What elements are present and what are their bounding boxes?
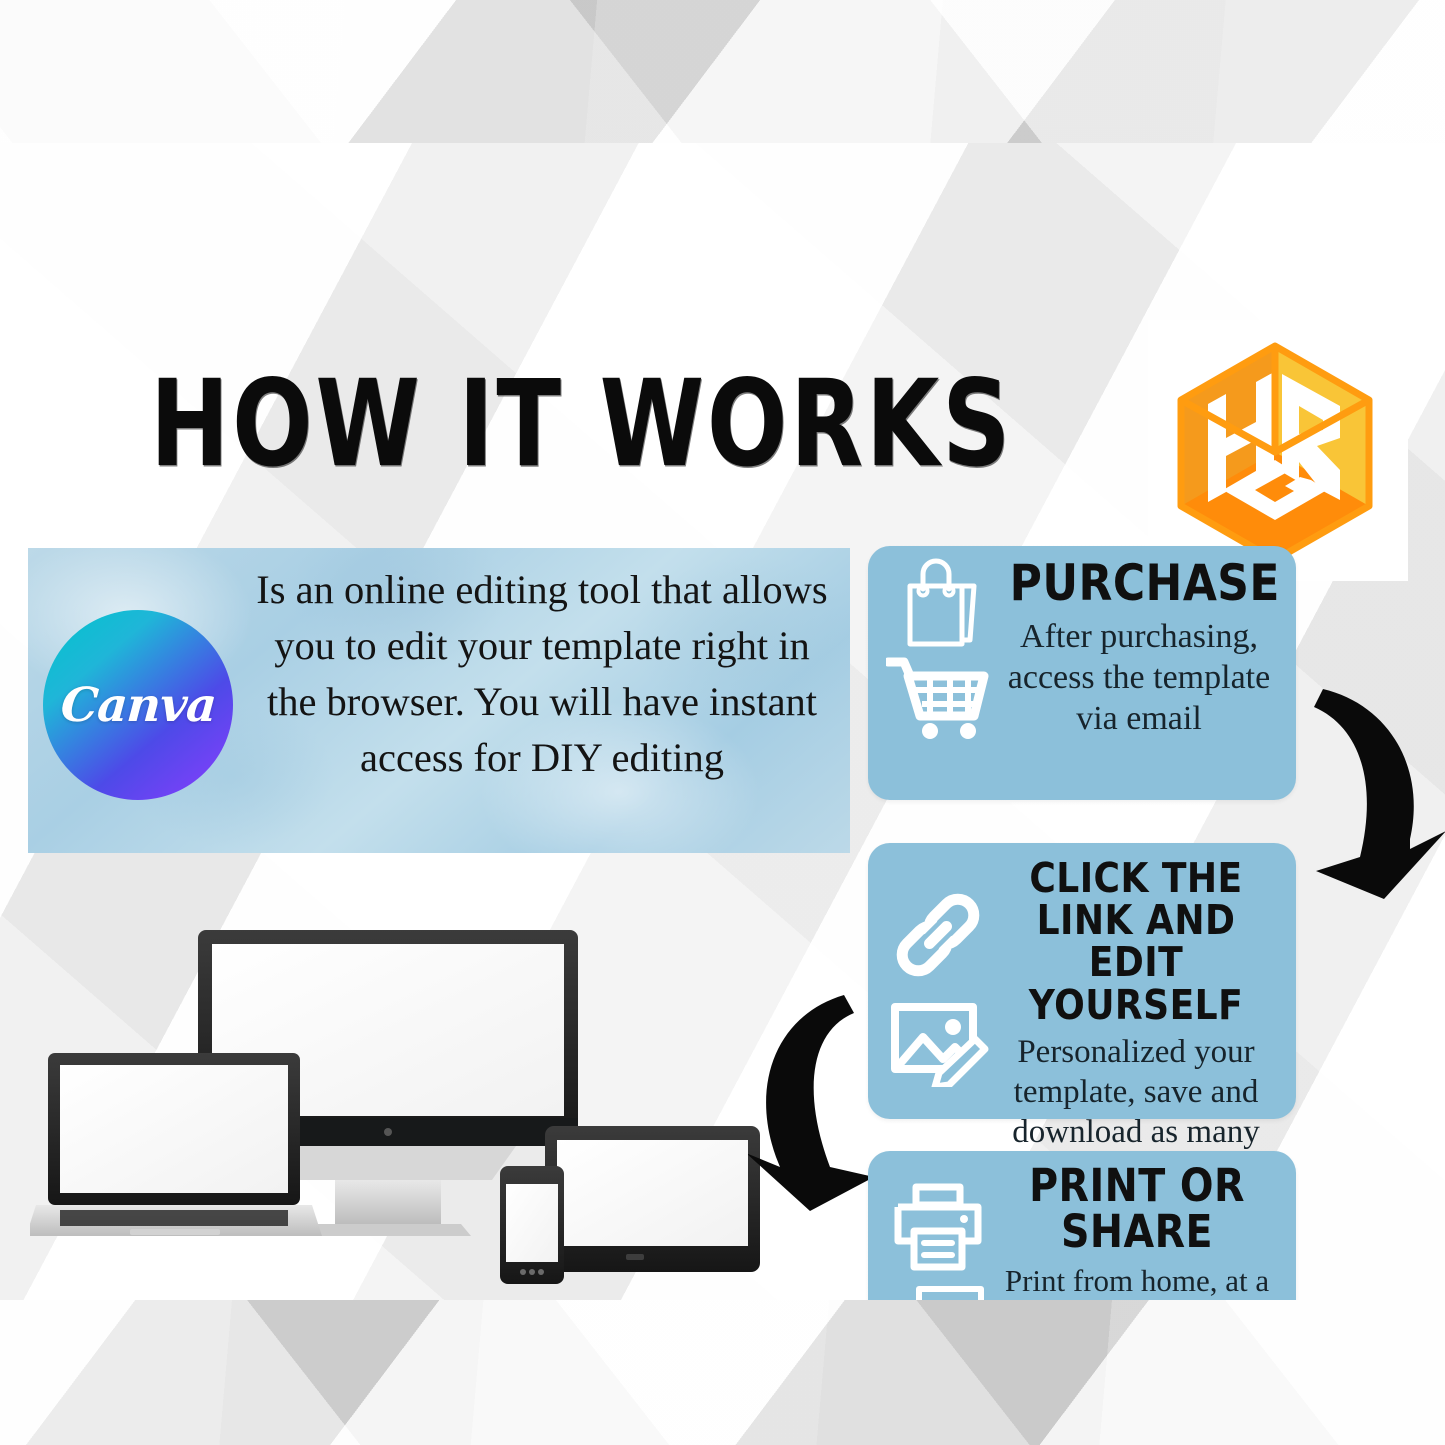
chat-bubbles-icon — [887, 1283, 989, 1300]
canva-brand-label: Canva — [59, 678, 218, 733]
infographic-canvas: HOW IT WORKS Canva Is an online editing … — [0, 143, 1445, 1300]
page-title: HOW IT WORKS — [150, 355, 1013, 494]
edit-icons — [882, 889, 994, 1087]
link-chain-icon — [888, 889, 988, 981]
step-card-edit[interactable]: CLICK THE LINK AND EDIT YOURSELF Persona… — [868, 843, 1296, 1119]
purchase-title: PURCHASE — [1010, 558, 1269, 610]
print-icons — [882, 1181, 994, 1300]
printer-icon — [890, 1181, 986, 1273]
hrg-logo — [1148, 320, 1408, 581]
device-mockup — [30, 918, 770, 1300]
smartphone-icon — [500, 1166, 564, 1284]
edit-title: CLICK THE LINK AND EDIT YOURSELF — [1004, 857, 1268, 1026]
print-title: PRINT OR SHARE — [1006, 1163, 1268, 1256]
print-body: PRINT OR SHARE Print from home, at a loc… — [988, 1163, 1286, 1300]
edit-body: CLICK THE LINK AND EDIT YOURSELF Persona… — [986, 857, 1286, 1193]
step-card-purchase[interactable]: PURCHASE After purchasing, access the te… — [868, 546, 1296, 800]
canva-description: Is an online editing tool that allows yo… — [246, 562, 838, 786]
purchase-body: PURCHASE After purchasing, access the te… — [992, 558, 1286, 740]
purchase-icons — [882, 556, 994, 740]
arrow-purchase-to-edit — [1298, 671, 1445, 911]
devices-illustration — [30, 918, 770, 1300]
shopping-cart-icon — [886, 656, 990, 740]
step-card-print[interactable]: PRINT OR SHARE Print from home, at a loc… — [868, 1151, 1296, 1300]
canva-info-panel: Canva Is an online editing tool that all… — [28, 548, 850, 853]
laptop-icon — [30, 1053, 322, 1236]
shopping-bag-icon — [892, 556, 984, 652]
curved-arrow-down-left-icon — [1298, 671, 1445, 906]
hrg-cube-icon — [1163, 334, 1393, 566]
canva-logo-circle: Canva — [43, 610, 233, 800]
purchase-description: After purchasing, access the template vi… — [992, 616, 1286, 740]
tablet-icon — [545, 1126, 760, 1272]
print-description: Print from home, at a local print shop o… — [988, 1262, 1286, 1300]
image-edit-icon — [887, 995, 989, 1087]
